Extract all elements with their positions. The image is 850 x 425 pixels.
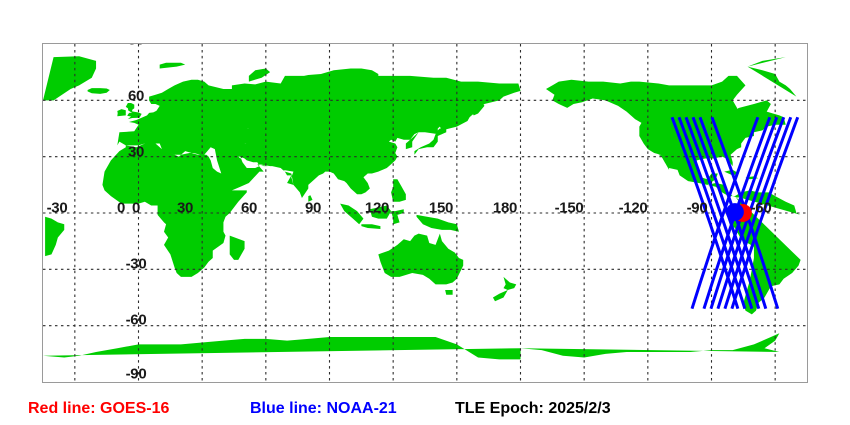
lon-tick-180: 180 — [493, 201, 517, 216]
noaa21-marker — [726, 203, 744, 221]
satellite-ground-track-map: -300306090120150180-150-120-90-60 906030… — [0, 0, 850, 425]
lat-tick-90: 90 — [128, 43, 144, 48]
lon-tick-neg60: -60 — [751, 201, 772, 216]
lon-tick-neg120: -120 — [619, 201, 648, 216]
lon-tick-60: 60 — [241, 201, 257, 216]
legend-tle-epoch: TLE Epoch: 2025/2/3 — [455, 401, 611, 417]
satellite-markers — [726, 203, 752, 222]
lat-tick-60: 60 — [128, 89, 144, 104]
legend-red-line-goes16: Red line: GOES-16 — [28, 401, 169, 417]
lon-tick-150: 150 — [429, 201, 453, 216]
lon-tick-neg150: -150 — [555, 201, 584, 216]
lon-tick-120: 120 — [365, 201, 389, 216]
lon-tick-90: 90 — [305, 201, 321, 216]
map-plot-area: -300306090120150180-150-120-90-60 906030… — [42, 43, 808, 383]
legend: Red line: GOES-16 Blue line: NOAA-21 TLE… — [0, 392, 850, 425]
lat-tick-neg60: -60 — [126, 313, 147, 328]
lat-tick-neg90: -90 — [126, 367, 147, 382]
lat-tick-30: 30 — [128, 145, 144, 160]
lon-tick-neg30: -30 — [47, 201, 68, 216]
lon-tick-30: 30 — [177, 201, 193, 216]
lat-tick-neg30: -30 — [126, 257, 147, 272]
lon-tick-0: 0 — [117, 201, 125, 216]
lon-tick-neg90: -90 — [687, 201, 708, 216]
legend-blue-line-noaa21: Blue line: NOAA-21 — [250, 401, 397, 417]
lat-tick-0: 0 — [132, 201, 140, 216]
